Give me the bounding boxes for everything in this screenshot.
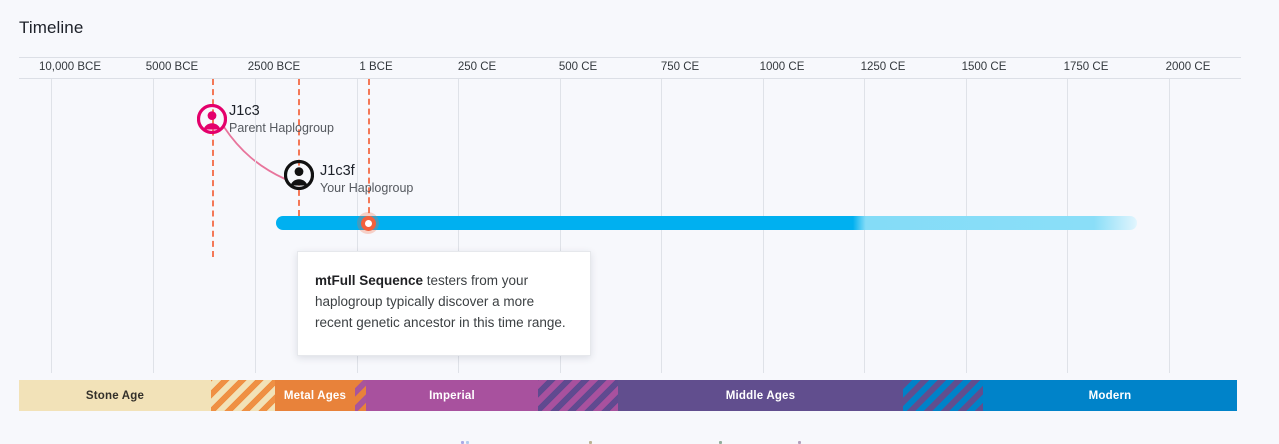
your-haplogroup-marker[interactable]: J1c3fYour Haplogroup <box>284 160 314 190</box>
your-haplogroup-name: J1c3f <box>320 162 413 180</box>
axis-tick-label: 500 CE <box>559 61 597 73</box>
era-label: Imperial <box>429 390 475 402</box>
slider-handle[interactable] <box>357 212 379 234</box>
your-haplogroup-subtitle: Your Haplogroup <box>320 180 413 196</box>
slider-dash <box>368 79 370 223</box>
parent-haplogroup-labels: J1c3Parent Haplogroup <box>229 102 334 136</box>
parent-haplogroup-name: J1c3 <box>229 102 334 120</box>
era-segment: Modern <box>983 380 1237 411</box>
person-icon <box>197 104 227 134</box>
time-range-slider[interactable] <box>276 216 1137 230</box>
era-segment: Metal Ages <box>275 380 355 411</box>
gridline <box>153 79 154 373</box>
axis-tick-label: 1250 CE <box>861 61 906 73</box>
era-bar: Stone AgeMetal AgesImperialMiddle AgesMo… <box>19 380 1237 411</box>
axis-tick-label: 1750 CE <box>1064 61 1109 73</box>
era-segment <box>211 380 275 411</box>
era-segment: Imperial <box>366 380 538 411</box>
axis-tick-label: 1000 CE <box>760 61 805 73</box>
slider-tooltip: mtFull Sequence testers from your haplog… <box>297 251 591 356</box>
gridline <box>1169 79 1170 373</box>
page-title: Timeline <box>19 18 83 38</box>
era-label: Metal Ages <box>284 390 346 402</box>
slider-track[interactable] <box>276 216 1137 230</box>
your-haplogroup-labels: J1c3fYour Haplogroup <box>320 162 413 196</box>
person-icon <box>284 160 314 190</box>
axis-tick-label: 5000 BCE <box>146 61 198 73</box>
era-segment: Middle Ages <box>618 380 903 411</box>
era-label: Modern <box>1089 390 1132 402</box>
axis-tick-label: 250 CE <box>458 61 496 73</box>
axis-tick-label: 750 CE <box>661 61 699 73</box>
axis-tick-label: 2500 BCE <box>248 61 300 73</box>
era-segment <box>355 380 366 411</box>
parent-haplogroup-subtitle: Parent Haplogroup <box>229 120 334 136</box>
era-segment: Stone Age <box>19 380 211 411</box>
axis-tick-label: 1 BCE <box>359 61 392 73</box>
timeline-axis: 10,000 BCE5000 BCE2500 BCE1 BCE250 CE500… <box>19 57 1241 79</box>
your-haplogroup-dash <box>298 79 300 216</box>
era-label: Middle Ages <box>726 390 796 402</box>
era-segment <box>903 380 983 411</box>
axis-tick-label: 10,000 BCE <box>39 61 101 73</box>
era-label: Stone Age <box>86 390 144 402</box>
era-segment <box>538 380 618 411</box>
gridline <box>51 79 52 373</box>
parent-haplogroup-marker[interactable]: J1c3Parent Haplogroup <box>197 104 227 134</box>
axis-tick-label: 2000 CE <box>1166 61 1211 73</box>
tooltip-bold-lead: mtFull Sequence <box>315 273 423 288</box>
tooltip-text: mtFull Sequence testers from your haplog… <box>315 270 573 333</box>
timeline-widget: Timeline 10,000 BCE5000 BCE2500 BCE1 BCE… <box>0 0 1279 444</box>
axis-tick-label: 1500 CE <box>962 61 1007 73</box>
